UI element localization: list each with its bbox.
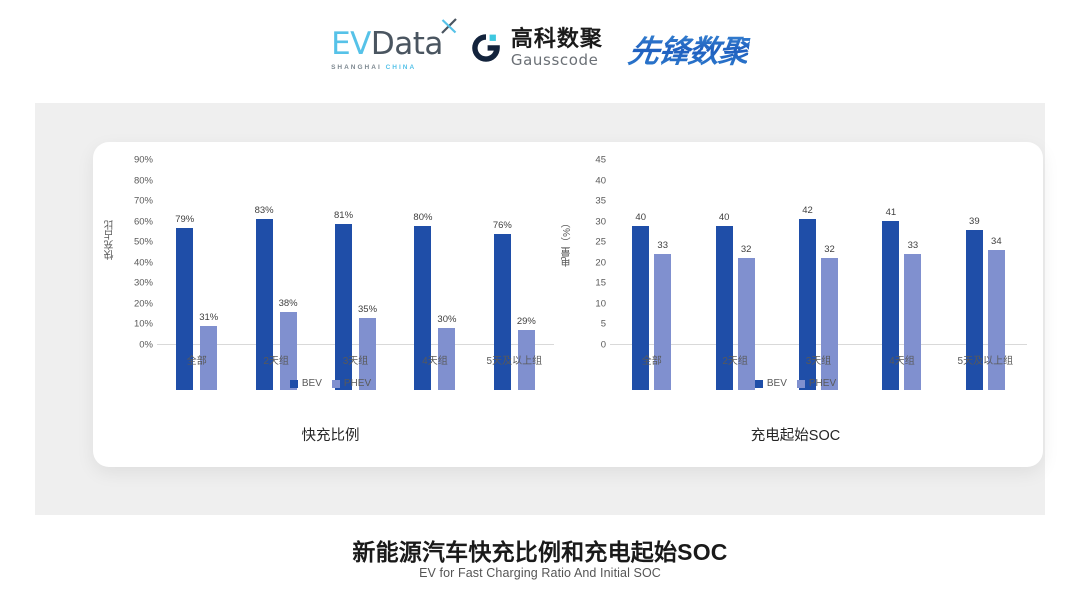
chart-caption-right: 充电起始SOC bbox=[548, 424, 1043, 445]
bar-value-label: 35% bbox=[358, 304, 377, 315]
bar-value-label: 83% bbox=[255, 205, 274, 216]
y-tick-label: 15 bbox=[595, 278, 606, 289]
bar-phev[interactable] bbox=[738, 258, 755, 390]
y-tick-label: 25 bbox=[595, 237, 606, 248]
x-tick-label: 全部 bbox=[157, 352, 236, 367]
evdata-ev-text: EV bbox=[331, 26, 371, 62]
y-axis-title-left: 快充占比 bbox=[103, 220, 118, 260]
x-tick-label: 2天组 bbox=[693, 352, 776, 367]
x-tick-label: 5天及以上组 bbox=[944, 352, 1027, 367]
gausscode-logo: 高科数聚 Gausscode bbox=[469, 29, 603, 68]
x-tick-label: 4天组 bbox=[395, 352, 474, 367]
bar-value-label: 31% bbox=[199, 312, 218, 323]
bar-value-label: 76% bbox=[493, 220, 512, 231]
x-tick-label: 2天组 bbox=[236, 352, 315, 367]
x-tick-label: 全部 bbox=[610, 352, 693, 367]
x-tick-label: 5天及以上组 bbox=[475, 352, 554, 367]
legend-item-bev[interactable]: BEV bbox=[755, 378, 787, 389]
chart-initial-soc: 电量（%） 454035302520151050 403340324232413… bbox=[548, 142, 1043, 467]
bar-value-label: 30% bbox=[437, 314, 456, 325]
charts-card: 快充占比 90%80%70%60%50%40%30%20%10%0% 79%31… bbox=[93, 142, 1043, 467]
y-tick-label: 10 bbox=[595, 298, 606, 309]
xianfeng-cn-text: 先锋数聚 bbox=[626, 26, 752, 71]
bar-value-label: 33 bbox=[657, 240, 668, 251]
bar-value-label: 81% bbox=[334, 210, 353, 221]
evdata-tagline-city: SHANGHAI bbox=[331, 64, 382, 71]
legend-left: BEVPHEV bbox=[93, 378, 568, 389]
bar-value-label: 40 bbox=[635, 212, 646, 223]
bar-value-label: 41 bbox=[886, 207, 897, 218]
bar-phev[interactable] bbox=[988, 250, 1005, 390]
bar-value-label: 38% bbox=[279, 298, 298, 309]
bar-value-label: 29% bbox=[517, 316, 536, 327]
legend-label: PHEV bbox=[344, 378, 371, 389]
evdata-tagline-country: CHINA bbox=[386, 64, 417, 71]
y-tick-label: 5 bbox=[601, 319, 606, 330]
y-tick-label: 0 bbox=[601, 340, 606, 351]
gausscode-cn-text: 高科数聚 bbox=[511, 29, 603, 51]
bar-value-label: 34 bbox=[991, 236, 1002, 247]
y-tick-label: 90% bbox=[134, 155, 153, 166]
x-cross-icon bbox=[439, 16, 459, 36]
x-tick-label: 3天组 bbox=[777, 352, 860, 367]
bar-value-label: 33 bbox=[908, 240, 919, 251]
y-tick-label: 40% bbox=[134, 257, 153, 268]
y-tick-label: 50% bbox=[134, 237, 153, 248]
bar-value-label: 39 bbox=[969, 216, 980, 227]
page-subtitle: EV for Fast Charging Ratio And Initial S… bbox=[0, 566, 1080, 580]
y-tick-label: 20% bbox=[134, 298, 153, 309]
evdata-wordmark: EV Data bbox=[331, 26, 443, 62]
y-tick-label: 10% bbox=[134, 319, 153, 330]
logo-bar: EV Data SHANGHAI CHINA 高科数聚 Gausscode bbox=[0, 0, 1080, 96]
evdata-logo: EV Data SHANGHAI CHINA bbox=[331, 26, 443, 71]
bar-phev[interactable] bbox=[654, 254, 671, 390]
plot-area-right: 电量（%） 454035302520151050 403340324232413… bbox=[548, 160, 1043, 390]
y-tick-label: 30% bbox=[134, 278, 153, 289]
y-tick-label: 0% bbox=[139, 340, 153, 351]
xianfeng-logo: 先锋数聚 bbox=[629, 26, 749, 71]
legend-swatch bbox=[755, 380, 763, 388]
chart-fast-charging-ratio: 快充占比 90%80%70%60%50%40%30%20%10%0% 79%31… bbox=[93, 142, 568, 467]
x-tick-label: 4天组 bbox=[860, 352, 943, 367]
legend-item-phev[interactable]: PHEV bbox=[332, 378, 371, 389]
g-circle-icon bbox=[469, 31, 503, 65]
y-tick-label: 45 bbox=[595, 155, 606, 166]
x-axis-labels-left: 全部2天组3天组4天组5天及以上组 bbox=[157, 352, 554, 367]
legend-item-bev[interactable]: BEV bbox=[290, 378, 322, 389]
bar-phev[interactable] bbox=[821, 258, 838, 390]
y-tick-label: 40 bbox=[595, 175, 606, 186]
gausscode-en-text: Gausscode bbox=[511, 53, 603, 68]
gausscode-wordmark: 高科数聚 Gausscode bbox=[511, 29, 603, 68]
bar-value-label: 42 bbox=[802, 205, 813, 216]
legend-right: BEVPHEV bbox=[548, 378, 1043, 389]
bar-phev[interactable] bbox=[904, 254, 921, 390]
legend-item-phev[interactable]: PHEV bbox=[797, 378, 836, 389]
y-tick-label: 35 bbox=[595, 196, 606, 207]
x-axis-labels-right: 全部2天组3天组4天组5天及以上组 bbox=[610, 352, 1027, 367]
bar-value-label: 79% bbox=[175, 214, 194, 225]
y-tick-label: 70% bbox=[134, 196, 153, 207]
y-axis-ticks-left: 90%80%70%60%50%40%30%20%10%0% bbox=[121, 160, 157, 345]
y-tick-label: 60% bbox=[134, 216, 153, 227]
x-tick-label: 3天组 bbox=[316, 352, 395, 367]
y-tick-label: 20 bbox=[595, 257, 606, 268]
bar-value-label: 40 bbox=[719, 212, 730, 223]
legend-label: BEV bbox=[302, 378, 322, 389]
legend-swatch bbox=[290, 380, 298, 388]
y-tick-label: 80% bbox=[134, 175, 153, 186]
y-axis-ticks-right: 454035302520151050 bbox=[574, 160, 610, 345]
plot-area-left: 快充占比 90%80%70%60%50%40%30%20%10%0% 79%31… bbox=[93, 160, 568, 390]
legend-swatch bbox=[332, 380, 340, 388]
page-title: 新能源汽车快充比例和充电起始SOC bbox=[0, 533, 1080, 567]
y-tick-label: 30 bbox=[595, 216, 606, 227]
evdata-data-text: Data bbox=[371, 26, 443, 62]
bar-value-label: 32 bbox=[741, 244, 752, 255]
legend-label: BEV bbox=[767, 378, 787, 389]
bar-value-label: 80% bbox=[413, 212, 432, 223]
legend-swatch bbox=[797, 380, 805, 388]
legend-label: PHEV bbox=[809, 378, 836, 389]
y-axis-title-right: 电量（%） bbox=[560, 218, 575, 267]
evdata-tagline: SHANGHAI CHINA bbox=[331, 64, 416, 71]
bar-value-label: 32 bbox=[824, 244, 835, 255]
chart-caption-left: 快充比例 bbox=[93, 424, 568, 445]
